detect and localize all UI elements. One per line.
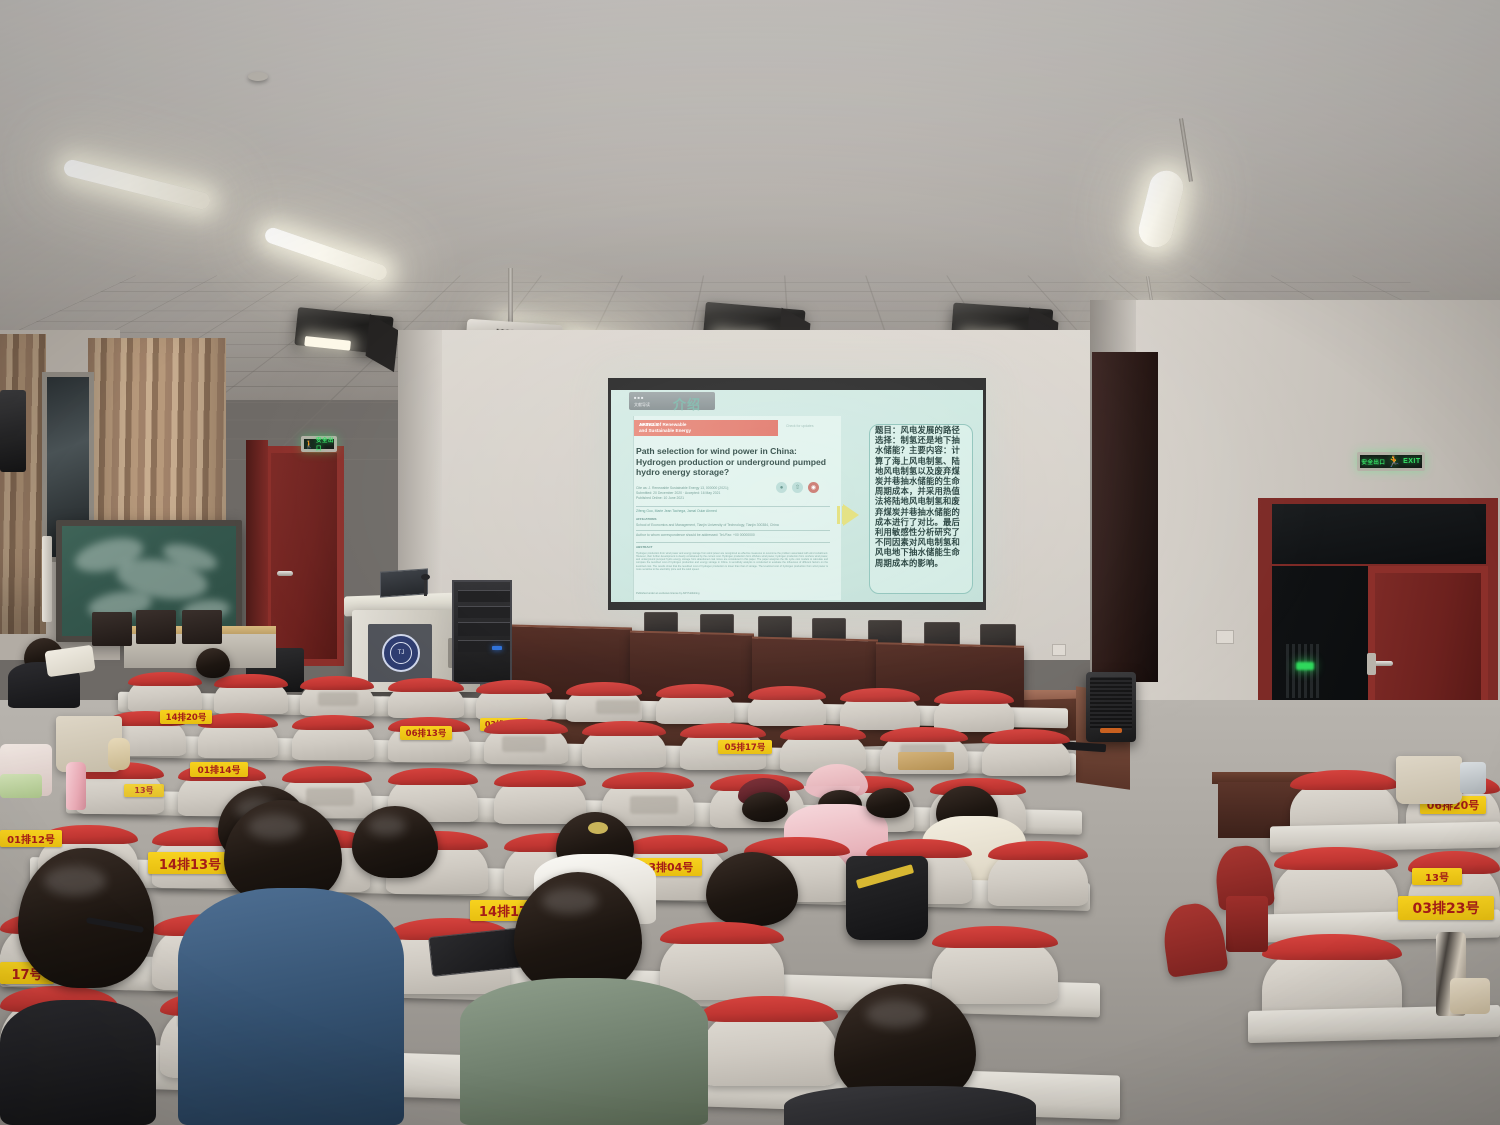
pointer-arrow-icon (843, 504, 859, 526)
exit-sign-right-label: EXIT (1403, 458, 1421, 465)
backpack (846, 856, 928, 940)
article-authors: Zifeng Guo, Marie Jean Tachega, Jamal Ou… (636, 509, 811, 514)
rack-status-led (492, 646, 502, 650)
radiator (1286, 644, 1320, 698)
affiliations-label: AFFILIATIONS (636, 517, 656, 521)
microphone-icon (421, 574, 430, 580)
toolbar-label: 文献导读 (634, 402, 650, 408)
snack-item (0, 774, 42, 798)
seat-number-plate: 14排20号 (160, 710, 212, 724)
wall-outlet[interactable] (1216, 630, 1234, 644)
seat-cushion (214, 674, 288, 688)
wall-outlet[interactable] (1052, 644, 1066, 656)
journal-header-band: Journal of Renewable and Sustainable Ene… (634, 420, 778, 436)
student-jacket (460, 978, 708, 1125)
abstract-label: ABSTRACT (636, 545, 653, 549)
seat-number-plate: 13号 (124, 784, 164, 797)
whiteboard-strip (42, 536, 52, 622)
seat-number-plate: 06排13号 (400, 726, 452, 740)
exit-sign-right: 安全出口 🏃 EXIT (1357, 452, 1425, 471)
article-affiliation: School of Economics and Management, Tian… (636, 523, 811, 528)
crest-initials: TJ (390, 642, 412, 664)
hair-tie (588, 822, 608, 834)
annotation-text: 题目：风电发展的路径选择：制氢还是地下抽水储能？主要内容：计算了海上风电制氢、陆… (870, 425, 972, 568)
student-sweater (178, 888, 404, 1125)
desk-row (1270, 822, 1500, 853)
seat-cushion (476, 680, 552, 694)
exit-sign-right-zh: 安全出口 (1361, 458, 1385, 466)
stage-side-curtain (1092, 352, 1158, 682)
seat-cushion (840, 688, 920, 702)
article-title: Path selection for wind power in China: … (636, 446, 830, 478)
article-published: Published Online: 10 June 2021 (636, 496, 811, 501)
pa-speaker (1086, 672, 1136, 742)
article-correspondence: Author to whom correspondence should be … (636, 533, 811, 538)
seat-number-plate: 05排17号 (718, 740, 772, 754)
wood-block-object (898, 752, 954, 770)
journal-badge: ARTICLE (639, 422, 739, 428)
wall-speaker (0, 390, 26, 472)
smoke-detector-icon (248, 72, 268, 81)
microphone-stem (424, 578, 427, 596)
seat-cushion (128, 672, 202, 686)
exit-sign-left-label: 安全出口 (316, 436, 334, 452)
lectern-laptop[interactable] (380, 568, 428, 597)
student-head (742, 792, 788, 822)
cite-icon[interactable]: ◉ (808, 482, 819, 493)
front-chair[interactable] (92, 612, 132, 646)
bag-object (1460, 762, 1486, 794)
tote-bag (1396, 756, 1462, 804)
seat-cushion (934, 690, 1014, 704)
student-coat (784, 1086, 1036, 1125)
backpack-strap (856, 864, 914, 889)
door-transom-window (1272, 504, 1486, 564)
running-person-exit-icon: 🚶 (304, 440, 314, 449)
article-footer: Published under an exclusive license by … (636, 592, 811, 597)
paper-sheet (44, 645, 95, 677)
student-coat (0, 1000, 156, 1125)
projection-screen: ■ ■ ■ 文献导读 介绍 Journal of Renewable and S… (611, 390, 983, 602)
seat-cushion (566, 682, 642, 696)
seat-number-plate: 01排14号 (190, 762, 248, 777)
university-crest: TJ (382, 634, 420, 672)
lectern-panel: TJ (368, 624, 432, 682)
share-icon[interactable]: ⇧ (792, 482, 803, 493)
av-equipment-rack (452, 580, 512, 684)
slide-article-scan: Journal of Renewable and Sustainable Ene… (633, 416, 841, 600)
water-bottle (66, 762, 86, 810)
seat-cushion (388, 678, 464, 692)
front-chair[interactable] (182, 610, 222, 644)
presentation-toolbar[interactable]: ■ ■ ■ 文献导读 (629, 392, 715, 410)
article-abstract: Hydrogen production from wind power and … (636, 552, 828, 571)
lecture-hall-photo: 🚶 安全出口 安全出口 🏃 EXIT ■ ■ ■ 文献导读 介绍 Journal (0, 0, 1500, 1125)
student-head (866, 788, 910, 818)
projection-screen-frame: ■ ■ ■ 文献导读 介绍 Journal of Renewable and S… (608, 378, 986, 610)
side-door[interactable] (264, 446, 344, 666)
pdf-icon[interactable]: ● (776, 482, 787, 493)
annotation-callout: 题目：风电发展的路径选择：制氢还是地下抽水储能？主要内容：计算了海上风电制氢、陆… (869, 424, 973, 594)
slide-heading: 介绍 (673, 394, 701, 413)
seat-cushion (656, 684, 734, 698)
corridor-exit-glow-icon (1296, 662, 1314, 670)
crossmark-label: Check for updates (786, 424, 814, 428)
front-chair[interactable] (136, 610, 176, 644)
cup-object (1450, 978, 1490, 1014)
seat-cushion (300, 676, 374, 690)
seat-number-plate: 01排12号 (0, 830, 62, 847)
plush-toy (108, 738, 130, 770)
seat-cushion (748, 686, 826, 700)
window-curtain (0, 334, 46, 634)
seat-number-plate: 14排13号 (148, 852, 232, 874)
seat-number-plate: 13号 (1412, 868, 1462, 885)
exit-sign-left: 🚶 安全出口 (301, 436, 337, 452)
running-person-exit-icon: 🏃 (1387, 455, 1401, 468)
aisle-seat-base (1226, 896, 1268, 952)
seat-number-plate: 03排23号 (1398, 896, 1494, 920)
seated-person-head (196, 648, 230, 678)
